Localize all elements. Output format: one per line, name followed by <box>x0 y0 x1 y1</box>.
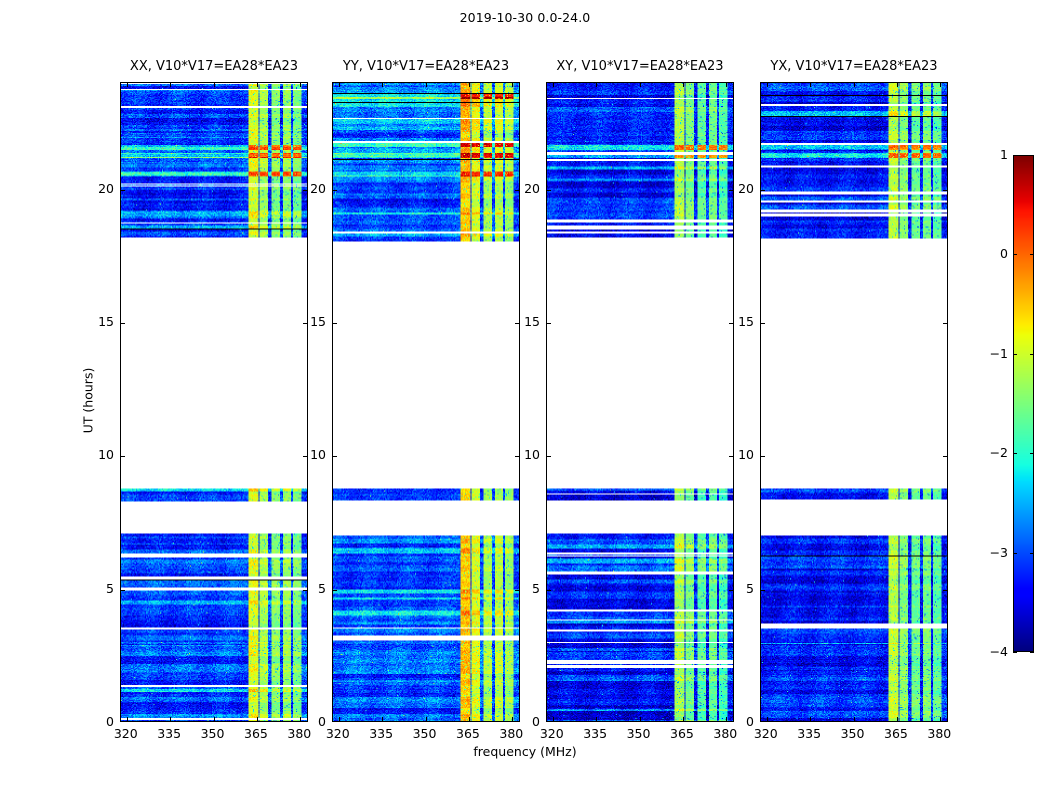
x-tick-mark <box>897 717 898 721</box>
y-tick-mark <box>943 323 947 324</box>
x-tick-mark <box>127 717 128 721</box>
x-tick-label: 350 <box>190 726 236 741</box>
colorbar-tick-mark <box>1030 453 1034 454</box>
colorbar-tick-mark <box>1013 453 1017 454</box>
y-tick-label: 5 <box>292 581 326 595</box>
colorbar-tick-mark <box>1013 652 1017 653</box>
x-tick-mark <box>767 717 768 721</box>
x-tick-mark <box>127 83 128 87</box>
colorbar-tick-mark <box>1013 553 1017 554</box>
x-tick-mark <box>683 83 684 87</box>
colorbar-tick-mark <box>1030 155 1034 156</box>
y-tick-label: 0 <box>80 714 114 728</box>
colorbar-tick-label: −3 <box>978 545 1008 559</box>
x-tick-label: 335 <box>146 726 192 741</box>
colorbar[interactable] <box>1013 155 1034 652</box>
colorbar-tick-mark <box>1013 155 1017 156</box>
x-tick-mark <box>810 717 811 721</box>
x-tick-label: 335 <box>572 726 618 741</box>
y-tick-label: 0 <box>720 714 754 728</box>
y-tick-mark <box>943 190 947 191</box>
x-tick-mark <box>426 83 427 87</box>
y-tick-mark <box>333 323 337 324</box>
y-tick-label: 5 <box>80 581 114 595</box>
colorbar-tick-mark <box>1013 354 1017 355</box>
y-tick-label: 10 <box>506 447 540 461</box>
y-axis-label: UT (hours) <box>81 341 96 461</box>
y-tick-label: 0 <box>506 714 540 728</box>
spectrum-panel-xy[interactable] <box>546 82 734 722</box>
x-tick-label: 380 <box>916 726 962 741</box>
colorbar-tick-mark <box>1030 254 1034 255</box>
x-tick-mark <box>940 717 941 721</box>
x-tick-mark <box>469 83 470 87</box>
x-tick-mark <box>854 717 855 721</box>
spectrum-panel-yy[interactable] <box>332 82 520 722</box>
x-tick-mark <box>214 83 215 87</box>
x-tick-mark <box>897 83 898 87</box>
x-tick-mark <box>640 83 641 87</box>
y-tick-mark <box>547 456 551 457</box>
x-tick-mark <box>257 83 258 87</box>
y-tick-label: 5 <box>720 581 754 595</box>
x-tick-mark <box>726 83 727 87</box>
y-tick-label: 20 <box>720 181 754 195</box>
dynamic-spectrum-xx <box>121 83 307 721</box>
x-tick-mark <box>426 717 427 721</box>
figure-suptitle: 2019-10-30 0.0-24.0 <box>0 10 1050 25</box>
x-tick-mark <box>382 83 383 87</box>
y-tick-label: 20 <box>292 181 326 195</box>
x-tick-label: 365 <box>233 726 279 741</box>
figure-canvas: 2019-10-30 0.0-24.0 XX, V10*V17=EA28*EA2… <box>0 0 1050 800</box>
y-tick-mark <box>761 323 765 324</box>
x-tick-label: 380 <box>702 726 748 741</box>
y-tick-mark <box>761 456 765 457</box>
x-tick-mark <box>214 717 215 721</box>
y-tick-label: 20 <box>80 181 114 195</box>
y-tick-label: 10 <box>720 447 754 461</box>
y-tick-mark <box>761 590 765 591</box>
x-tick-mark <box>854 83 855 87</box>
y-tick-label: 15 <box>720 314 754 328</box>
y-tick-mark <box>547 590 551 591</box>
x-tick-mark <box>810 83 811 87</box>
x-tick-mark <box>553 717 554 721</box>
x-tick-mark <box>257 717 258 721</box>
spectrum-panel-yx[interactable] <box>760 82 948 722</box>
y-tick-label: 5 <box>506 581 540 595</box>
x-tick-mark <box>640 717 641 721</box>
x-tick-label: 350 <box>616 726 662 741</box>
x-tick-mark <box>596 717 597 721</box>
y-tick-mark <box>761 190 765 191</box>
y-tick-mark <box>333 590 337 591</box>
x-tick-mark <box>683 717 684 721</box>
y-tick-mark <box>943 456 947 457</box>
colorbar-tick-label: −1 <box>978 346 1008 360</box>
colorbar-tick-label: 1 <box>978 147 1008 161</box>
panel-title-yx: YX, V10*V17=EA28*EA23 <box>760 59 948 77</box>
x-tick-label: 380 <box>488 726 534 741</box>
x-tick-label: 365 <box>445 726 491 741</box>
colorbar-tick-label: −2 <box>978 445 1008 459</box>
y-tick-mark <box>547 323 551 324</box>
x-tick-label: 365 <box>659 726 705 741</box>
y-tick-label: 20 <box>506 181 540 195</box>
y-tick-mark <box>121 456 125 457</box>
colorbar-tick-label: 0 <box>978 246 1008 260</box>
y-tick-label: 15 <box>292 314 326 328</box>
x-tick-mark <box>553 83 554 87</box>
y-tick-label: 10 <box>292 447 326 461</box>
panel-title-xx: XX, V10*V17=EA28*EA23 <box>120 59 308 77</box>
x-axis-label: frequency (MHz) <box>0 744 1050 759</box>
dynamic-spectrum-xy <box>547 83 733 721</box>
spectrum-panel-xx[interactable] <box>120 82 308 722</box>
x-tick-mark <box>940 83 941 87</box>
x-tick-mark <box>469 717 470 721</box>
y-tick-mark <box>121 323 125 324</box>
x-tick-label: 335 <box>358 726 404 741</box>
y-tick-label: 15 <box>506 314 540 328</box>
dynamic-spectrum-yx <box>761 83 947 721</box>
y-tick-mark <box>333 190 337 191</box>
y-tick-mark <box>121 190 125 191</box>
x-tick-mark <box>512 83 513 87</box>
x-tick-label: 365 <box>873 726 919 741</box>
y-tick-label: 15 <box>80 314 114 328</box>
x-tick-mark <box>300 83 301 87</box>
colorbar-tick-mark <box>1013 254 1017 255</box>
colorbar-tick-mark <box>1030 652 1034 653</box>
x-tick-mark <box>339 717 340 721</box>
y-tick-mark <box>333 456 337 457</box>
x-tick-mark <box>170 717 171 721</box>
x-tick-mark <box>382 717 383 721</box>
y-tick-mark <box>547 190 551 191</box>
x-tick-mark <box>767 83 768 87</box>
panel-title-xy: XY, V10*V17=EA28*EA23 <box>546 59 734 77</box>
x-tick-mark <box>596 83 597 87</box>
x-tick-mark <box>170 83 171 87</box>
dynamic-spectrum-yy <box>333 83 519 721</box>
y-tick-label: 0 <box>292 714 326 728</box>
y-tick-label: 10 <box>80 447 114 461</box>
x-tick-mark <box>339 83 340 87</box>
colorbar-tick-mark <box>1030 553 1034 554</box>
y-tick-mark <box>943 590 947 591</box>
colorbar-tick-label: −4 <box>978 644 1008 658</box>
panel-title-yy: YY, V10*V17=EA28*EA23 <box>332 59 520 77</box>
y-tick-mark <box>121 590 125 591</box>
x-tick-label: 335 <box>786 726 832 741</box>
colorbar-tick-mark <box>1030 354 1034 355</box>
x-tick-label: 350 <box>402 726 448 741</box>
x-tick-label: 350 <box>830 726 876 741</box>
